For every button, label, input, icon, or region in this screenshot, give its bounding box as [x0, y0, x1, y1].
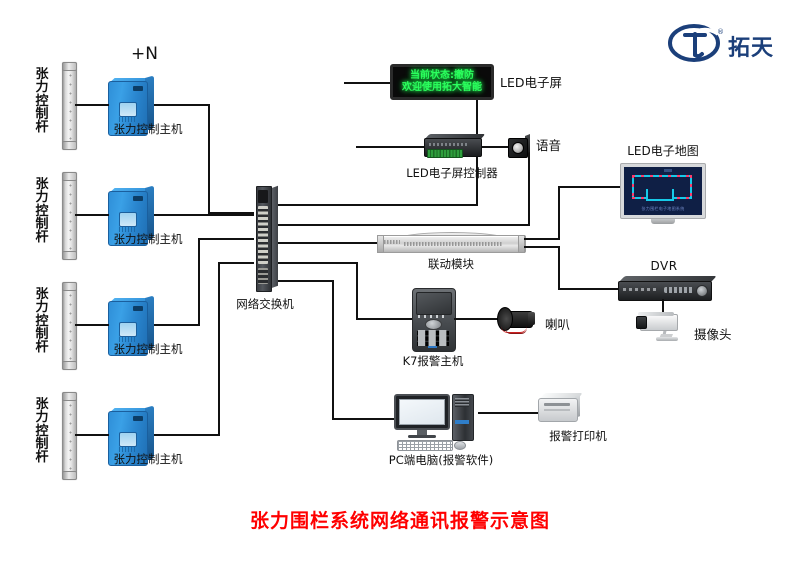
wire-ledctl-voice: [482, 146, 508, 148]
network-switch: [256, 186, 278, 290]
wire-linkage-dvr-h1: [524, 246, 560, 248]
camera-label: 摄像头: [694, 328, 732, 342]
wire-host4-right: [154, 434, 220, 436]
k7-alarm-host-label: K7报警主机: [403, 355, 464, 368]
wire-linkage-dvr-h2: [558, 288, 618, 290]
tension-pole-2: [62, 172, 77, 260]
camera: [636, 312, 688, 346]
k7-alarm-host: [412, 288, 454, 350]
pole-label-4: 张 力 控 制 杆: [35, 398, 49, 464]
brand-mark-icon: [668, 22, 724, 64]
led-line-1: 当前状态:撤防: [410, 70, 474, 82]
speaker-siren: [497, 305, 543, 333]
wire-row4-up: [218, 262, 220, 436]
wire-switch-pc-h2: [332, 418, 394, 420]
wire-pole1-host1: [75, 104, 109, 106]
wire-switch-k7-v: [356, 262, 358, 320]
wire-linkage-dvr-v: [558, 246, 560, 290]
voice-module: [508, 136, 530, 157]
registered-mark: ®: [717, 28, 724, 36]
linkage-module: [378, 232, 524, 254]
wire-row1-down: [208, 104, 210, 214]
wire-host2-switch: [154, 214, 254, 216]
led-map-caption: 张力围栏电子地图系统: [624, 206, 702, 212]
led-controller-label: LED电子屏控制器: [406, 167, 498, 180]
led-line-2: 欢迎使用拓大智能: [402, 82, 482, 94]
plus-n-label: +N: [131, 44, 158, 64]
tension-host-label-4: 张力控制主机: [114, 453, 183, 466]
pole-label-3: 张 力 控 制 杆: [35, 288, 49, 354]
voice-label: 语音: [536, 139, 561, 153]
linkage-module-label: 联动模块: [428, 258, 474, 271]
led-electronic-map: 张力围栏电子地图系统: [620, 163, 706, 225]
pc-workstation: [394, 394, 486, 450]
wire-linkage-map-v: [558, 186, 560, 240]
wire-switch-ledctl-h1: [278, 224, 530, 226]
wire-switch-pc-v: [332, 280, 334, 420]
wire-row3-up: [198, 238, 200, 326]
led-screen-label: LED电子屏: [500, 76, 562, 90]
brand-logo: ® 拓天: [668, 22, 788, 64]
wire-switch-ledscreen-h1: [278, 204, 478, 206]
wire-ledctl-v: [528, 146, 530, 226]
wire-host1-right: [154, 104, 210, 106]
tension-pole-1: [62, 62, 77, 150]
wire-pole4-host4: [75, 434, 109, 436]
alarm-printer: [538, 392, 580, 422]
wire-row3-to-switch: [198, 238, 254, 240]
pole-label-1: 张 力 控 制 杆: [35, 68, 49, 134]
wire-switch-linkage: [278, 242, 378, 244]
speaker-label: 喇叭: [545, 318, 570, 332]
wire-linkage-map-h1: [524, 238, 560, 240]
network-switch-label: 网络交换机: [236, 298, 294, 311]
wire-host3-right: [154, 324, 200, 326]
wire-row4-to-switch: [218, 262, 254, 264]
wire-pole2-host2: [75, 214, 109, 216]
led-display-screen: 当前状态:撤防 欢迎使用拓大智能: [390, 64, 494, 100]
wire-switch-pc-h1: [278, 280, 334, 282]
brand-name: 拓天: [728, 30, 774, 62]
alarm-printer-label: 报警打印机: [549, 430, 607, 443]
wire-linkage-map-h2: [558, 186, 620, 188]
tension-pole-3: [62, 282, 77, 370]
tension-host-label-3: 张力控制主机: [114, 343, 183, 356]
tension-pole-4: [62, 392, 77, 480]
diagram-canvas: ® 拓天 +N 张 力 控 制 杆 张力控制主机 张 力 控 制 杆 张力控制主…: [0, 0, 800, 579]
tension-host-label-1: 张力控制主机: [114, 123, 183, 136]
pole-label-2: 张 力 控 制 杆: [35, 178, 49, 244]
diagram-title: 张力围栏系统网络通讯报警示意图: [250, 506, 550, 533]
wire-k7-speaker: [454, 318, 498, 320]
wire-pc-printer: [478, 412, 540, 414]
wire-pole3-host3: [75, 324, 109, 326]
dvr-unit: [618, 276, 710, 301]
led-screen-controller: [421, 132, 483, 158]
dvr-label: DVR: [650, 260, 677, 274]
tension-host-label-2: 张力控制主机: [114, 233, 183, 246]
wire-switch-k7-h1: [278, 262, 358, 264]
led-map-label: LED电子地图: [627, 145, 699, 159]
pc-label: PC端电脑(报警软件): [389, 454, 493, 467]
wire-switch-k7-h2: [356, 318, 412, 320]
